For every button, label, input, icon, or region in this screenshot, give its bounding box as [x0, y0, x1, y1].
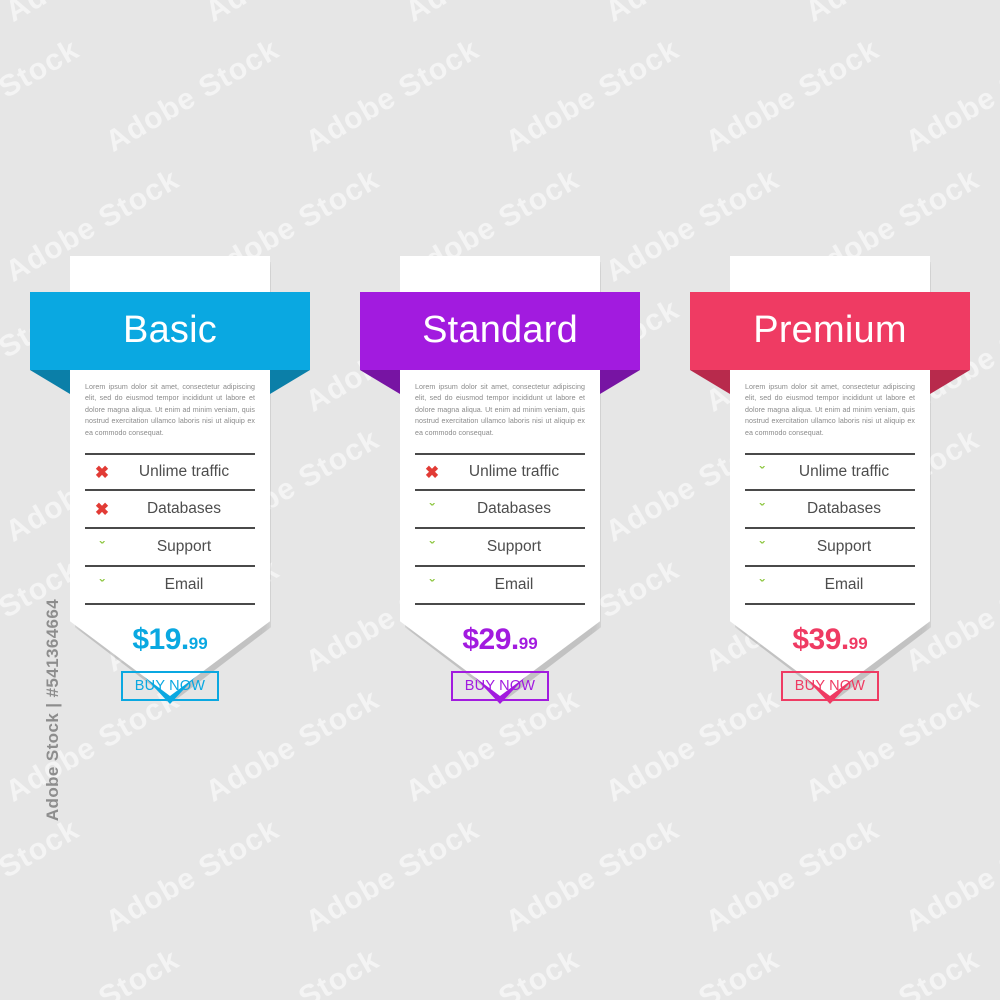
- price-cents: 99: [849, 634, 868, 653]
- cross-icon: ✖: [85, 464, 119, 481]
- plan-description: Lorem ipsum dolor sit amet, consectetur …: [415, 382, 585, 439]
- feature-row: ˇEmail: [745, 567, 915, 605]
- pricing-cards-row: BasicLorem ipsum dolor sit amet, consect…: [0, 256, 1000, 736]
- price-main: $29.: [462, 623, 518, 656]
- watermark-text: Adobe Stock: [700, 813, 885, 940]
- watermark-text: Adobe Stock: [900, 33, 1000, 160]
- feature-label: Email: [449, 576, 585, 594]
- feature-row: ˇDatabases: [415, 491, 585, 529]
- feature-label: Email: [119, 576, 255, 594]
- feature-row: ˇSupport: [415, 529, 585, 567]
- buy-button-wrap: BUY NOW: [415, 671, 585, 701]
- plan-price: $19.99: [85, 625, 255, 655]
- card-header-ribbon: Standard: [360, 292, 640, 370]
- buy-now-button[interactable]: BUY NOW: [781, 671, 879, 701]
- plan-title: Basic: [123, 311, 217, 352]
- watermark-text: Adobe Stock: [300, 813, 485, 940]
- cross-icon: ✖: [415, 464, 449, 481]
- feature-row: ✖Unlime traffic: [85, 453, 255, 491]
- watermark-text: Adobe Stock: [500, 813, 685, 940]
- feature-row: ˇEmail: [85, 567, 255, 605]
- watermark-text: Adobe Stock: [600, 943, 785, 1000]
- card-body: Lorem ipsum dolor sit amet, consectetur …: [85, 382, 255, 701]
- feature-label: Databases: [119, 500, 255, 518]
- watermark-text: Adobe Stock: [0, 943, 185, 1000]
- watermark-text: Adobe Stock: [600, 0, 785, 29]
- check-icon: ˇ: [415, 540, 449, 555]
- plan-title: Standard: [422, 311, 578, 352]
- feature-row: ✖Unlime traffic: [415, 453, 585, 491]
- feature-list: ✖Unlime trafficˇDatabasesˇSupportˇEmail: [415, 453, 585, 605]
- feature-label: Email: [779, 576, 915, 594]
- plan-title: Premium: [753, 311, 906, 352]
- card-header-ribbon: Premium: [690, 292, 970, 370]
- buy-now-button[interactable]: BUY NOW: [121, 671, 219, 701]
- feature-label: Databases: [449, 500, 585, 518]
- watermark-text: Adobe Stock: [300, 33, 485, 160]
- watermark-text: Adobe Stock: [700, 33, 885, 160]
- pricing-card-basic: BasicLorem ipsum dolor sit amet, consect…: [30, 256, 310, 726]
- feature-list: ✖Unlime traffic✖DatabasesˇSupportˇEmail: [85, 453, 255, 605]
- card-body: Lorem ipsum dolor sit amet, consectetur …: [415, 382, 585, 701]
- watermark-text: Adobe Stock: [500, 33, 685, 160]
- watermark-text: Adobe Stock: [0, 0, 185, 29]
- feature-label: Databases: [779, 500, 915, 518]
- buy-button-wrap: BUY NOW: [85, 671, 255, 701]
- check-icon: ˇ: [745, 502, 779, 517]
- feature-row: ˇSupport: [745, 529, 915, 567]
- check-icon: ˇ: [745, 540, 779, 555]
- feature-label: Support: [119, 538, 255, 556]
- watermark-text: Adobe Stock: [400, 943, 585, 1000]
- pricing-card-premium: PremiumLorem ipsum dolor sit amet, conse…: [690, 256, 970, 726]
- ribbon-flap-right: [930, 370, 970, 394]
- feature-row: ˇSupport: [85, 529, 255, 567]
- feature-list: ˇUnlime trafficˇDatabasesˇSupportˇEmail: [745, 453, 915, 605]
- feature-row: ˇUnlime traffic: [745, 453, 915, 491]
- buy-button-wrap: BUY NOW: [745, 671, 915, 701]
- card-body: Lorem ipsum dolor sit amet, consectetur …: [745, 382, 915, 701]
- check-icon: ˇ: [745, 578, 779, 593]
- feature-label: Support: [449, 538, 585, 556]
- pricing-table-stage: Adobe StockAdobe StockAdobe StockAdobe S…: [0, 0, 1000, 1000]
- check-icon: ˇ: [85, 578, 119, 593]
- feature-row: ✖Databases: [85, 491, 255, 529]
- pricing-card-standard: StandardLorem ipsum dolor sit amet, cons…: [360, 256, 640, 726]
- ribbon-flap-left: [30, 370, 70, 394]
- feature-label: Support: [779, 538, 915, 556]
- ribbon-flap-left: [360, 370, 400, 394]
- watermark-text: Adobe Stock: [200, 0, 385, 29]
- watermark-text: Adobe Stock: [0, 33, 85, 160]
- price-main: $19.: [132, 623, 188, 656]
- watermark-text: Adobe Stock: [100, 813, 285, 940]
- watermark-text: Adobe Stock: [800, 943, 985, 1000]
- check-icon: ˇ: [415, 502, 449, 517]
- watermark-text: Adobe Stock: [400, 0, 585, 29]
- price-cents: 99: [189, 634, 208, 653]
- plan-price: $39.99: [745, 625, 915, 655]
- feature-label: Unlime traffic: [449, 463, 585, 481]
- feature-label: Unlime traffic: [119, 463, 255, 481]
- feature-label: Unlime traffic: [779, 463, 915, 481]
- check-icon: ˇ: [745, 465, 779, 480]
- feature-row: ˇDatabases: [745, 491, 915, 529]
- ribbon-flap-right: [600, 370, 640, 394]
- plan-description: Lorem ipsum dolor sit amet, consectetur …: [745, 382, 915, 439]
- buy-now-button[interactable]: BUY NOW: [451, 671, 549, 701]
- watermark-text: Adobe Stock: [100, 33, 285, 160]
- card-header-ribbon: Basic: [30, 292, 310, 370]
- check-icon: ˇ: [415, 578, 449, 593]
- price-cents: 99: [519, 634, 538, 653]
- check-icon: ˇ: [85, 540, 119, 555]
- cross-icon: ✖: [85, 501, 119, 518]
- plan-price: $29.99: [415, 625, 585, 655]
- feature-row: ˇEmail: [415, 567, 585, 605]
- ribbon-flap-right: [270, 370, 310, 394]
- watermark-text: Adobe Stock: [900, 813, 1000, 940]
- watermark-text: Adobe Stock: [800, 0, 985, 29]
- price-main: $39.: [792, 623, 848, 656]
- ribbon-flap-left: [690, 370, 730, 394]
- plan-description: Lorem ipsum dolor sit amet, consectetur …: [85, 382, 255, 439]
- watermark-text: Adobe Stock: [200, 943, 385, 1000]
